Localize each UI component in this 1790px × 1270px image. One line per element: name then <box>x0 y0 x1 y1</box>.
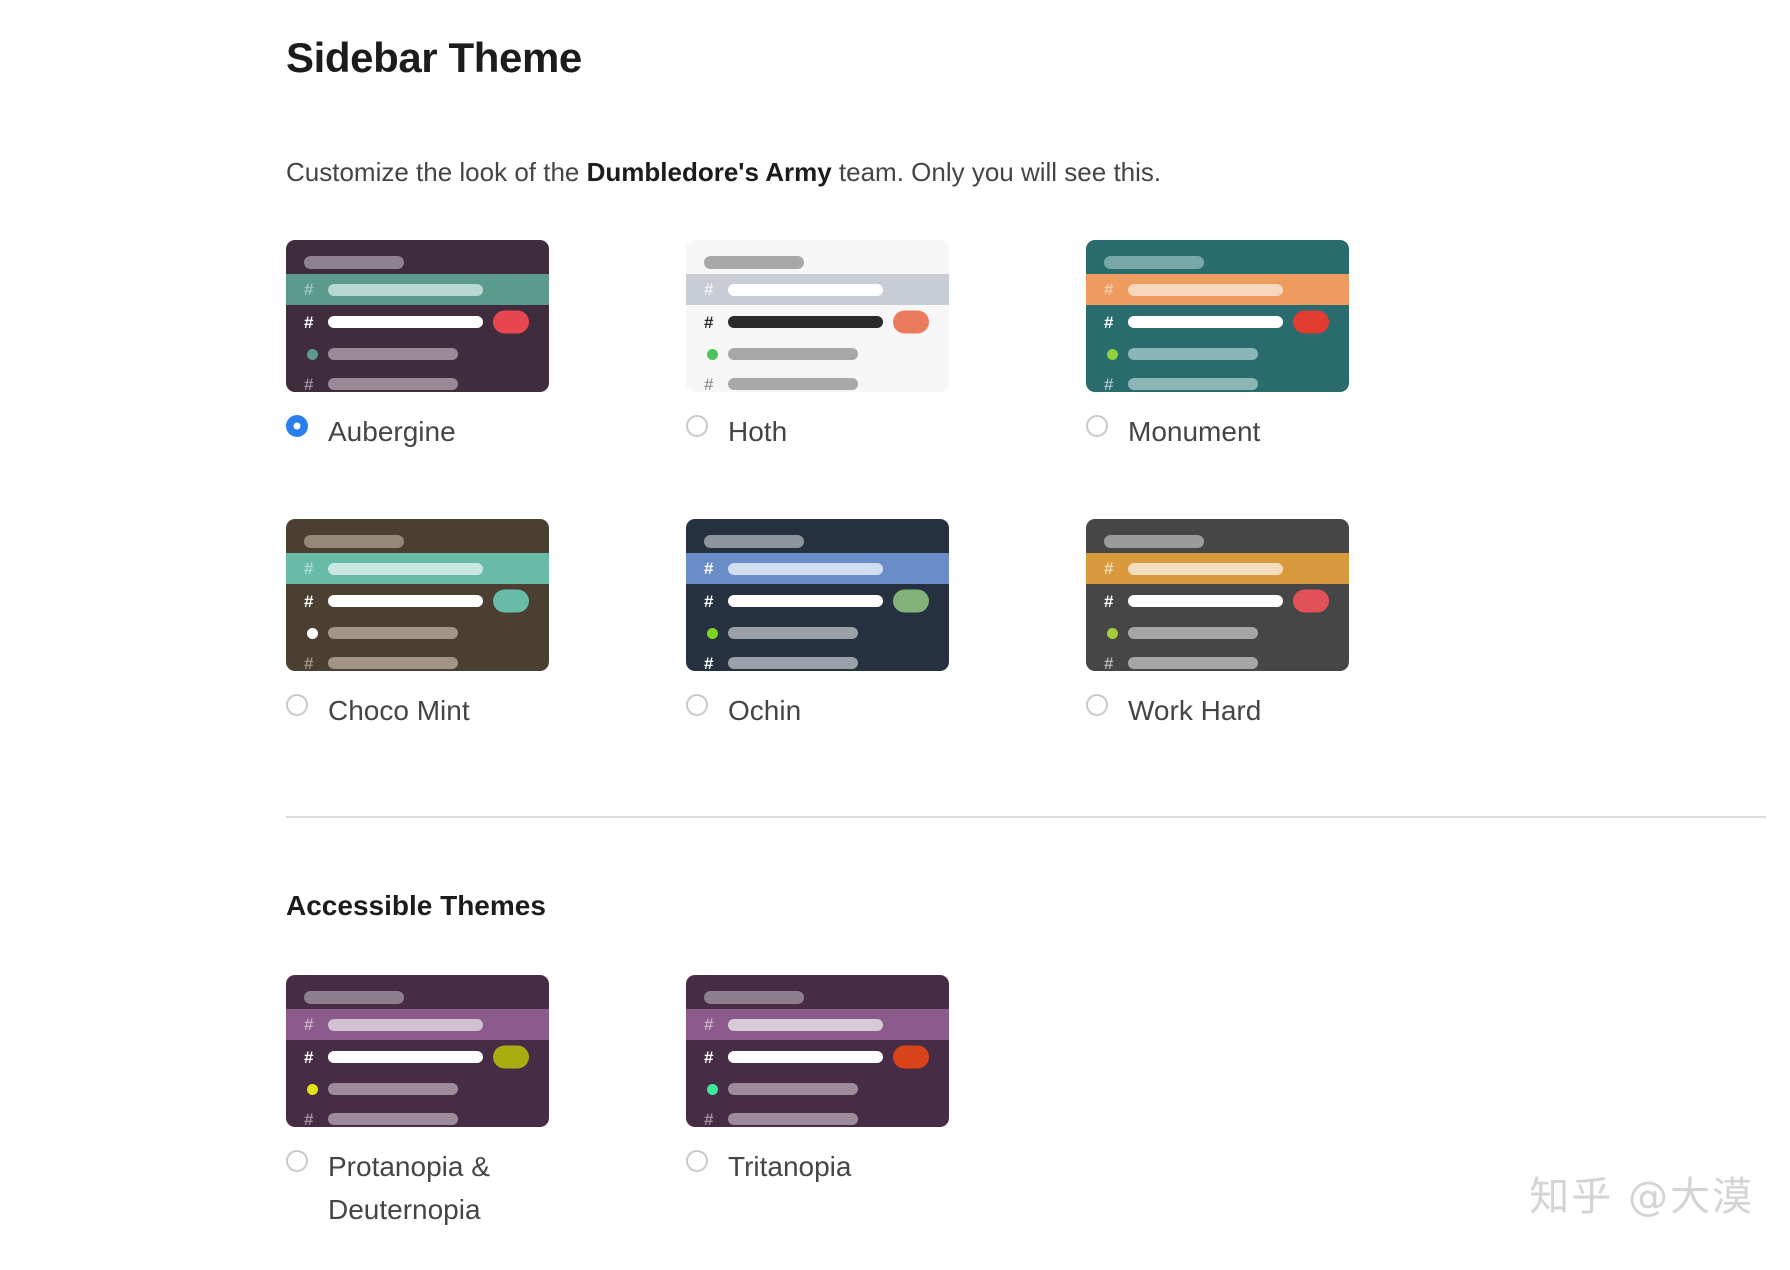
preview-team-row <box>286 975 549 1009</box>
preview-unread-channel-row: # <box>1086 305 1349 339</box>
preview-mention-badge <box>493 1046 529 1069</box>
theme-preview-card[interactable]: ### <box>686 519 949 671</box>
hash-icon: # <box>704 1111 722 1128</box>
radio-tritanopia[interactable] <box>686 1150 708 1172</box>
preview-channel-name-bar <box>328 378 458 390</box>
theme-preview-card[interactable]: ### <box>1086 519 1349 671</box>
preview-dm-name-bar <box>728 1083 858 1095</box>
preview-team-row <box>686 519 949 553</box>
presence-dot-icon <box>1107 628 1118 639</box>
section-divider <box>286 816 1766 818</box>
preview-channel-name-bar <box>728 1051 883 1063</box>
preview-clipped-channel-row: # <box>286 369 549 392</box>
theme-grid-standard: ###Aubergine###Hoth###Monument###Choco M… <box>286 240 1486 733</box>
preview-channel-name-bar <box>728 284 883 296</box>
hash-icon: # <box>1104 560 1122 577</box>
preview-clipped-channel-row: # <box>1086 648 1349 671</box>
theme-option-tritanopia[interactable]: ###Tritanopia <box>686 975 986 1232</box>
preview-team-row <box>686 975 949 1009</box>
sidebar-theme-settings-page: Sidebar Theme Customize the look of the … <box>0 0 1790 1270</box>
preview-team-name-pill <box>1104 535 1204 548</box>
preview-channel-name-bar <box>328 1051 483 1063</box>
preview-unread-channel-row: # <box>686 584 949 618</box>
preview-team-row <box>686 240 949 274</box>
presence-dot-icon <box>307 349 318 360</box>
preview-dm-row <box>1086 339 1349 369</box>
theme-option-control[interactable]: Hoth <box>686 410 986 453</box>
theme-label-aubergine[interactable]: Aubergine <box>328 410 456 453</box>
hash-icon: # <box>1104 655 1122 672</box>
theme-label-monument[interactable]: Monument <box>1128 410 1260 453</box>
hash-icon: # <box>704 655 722 672</box>
theme-preview-card[interactable]: ### <box>1086 240 1349 392</box>
preview-dm-row <box>1086 618 1349 648</box>
preview-unread-channel-row: # <box>286 305 549 339</box>
theme-option-protanopia-deuternopia[interactable]: ###Protanopia & Deuternopia <box>286 975 586 1232</box>
preview-channel-name-bar <box>1128 316 1283 328</box>
preview-team-row <box>286 519 549 553</box>
preview-mention-badge <box>493 311 529 334</box>
preview-active-channel-row: # <box>1086 274 1349 305</box>
theme-preview-card[interactable]: ### <box>286 975 549 1127</box>
theme-preview-card[interactable]: ### <box>286 240 549 392</box>
preview-dm-row <box>686 339 949 369</box>
hash-icon: # <box>304 1016 322 1033</box>
watermark: 知乎 @大漠 <box>1529 1164 1754 1222</box>
preview-team-name-pill <box>304 991 404 1004</box>
theme-option-hoth[interactable]: ###Hoth <box>686 240 986 453</box>
preview-channel-name-bar <box>728 595 883 607</box>
hash-icon: # <box>704 1016 722 1033</box>
theme-label-choco-mint[interactable]: Choco Mint <box>328 689 470 732</box>
radio-ochin[interactable] <box>686 694 708 716</box>
preview-channel-name-bar <box>728 1113 858 1125</box>
preview-channel-name-bar <box>328 1019 483 1031</box>
page-description-suffix: team. Only you will see this. <box>832 157 1161 187</box>
hash-icon: # <box>704 314 722 331</box>
presence-dot-icon <box>307 628 318 639</box>
preview-channel-name-bar <box>728 657 858 669</box>
preview-dm-name-bar <box>328 348 458 360</box>
preview-mention-badge <box>893 1046 929 1069</box>
hash-icon: # <box>304 314 322 331</box>
hash-icon: # <box>704 560 722 577</box>
theme-option-control[interactable]: Choco Mint <box>286 689 586 732</box>
theme-option-work-hard[interactable]: ###Work Hard <box>1086 519 1386 732</box>
preview-dm-name-bar <box>728 348 858 360</box>
preview-channel-name-bar <box>1128 595 1283 607</box>
theme-preview-card[interactable]: ### <box>686 975 949 1127</box>
theme-label-work-hard[interactable]: Work Hard <box>1128 689 1261 732</box>
preview-clipped-channel-row: # <box>686 1104 949 1127</box>
radio-hoth[interactable] <box>686 415 708 437</box>
preview-clipped-channel-row: # <box>286 1104 549 1127</box>
theme-label-ochin[interactable]: Ochin <box>728 689 801 732</box>
preview-active-channel-row: # <box>686 553 949 584</box>
hash-icon: # <box>304 1049 322 1066</box>
team-name: Dumbledore's Army <box>587 157 832 187</box>
preview-channel-name-bar <box>328 595 483 607</box>
preview-unread-channel-row: # <box>1086 584 1349 618</box>
preview-mention-badge <box>1293 311 1329 334</box>
preview-channel-name-bar <box>1128 563 1283 575</box>
preview-channel-name-bar <box>728 378 858 390</box>
preview-dm-name-bar <box>328 627 458 639</box>
preview-team-row <box>286 240 549 274</box>
presence-dot-icon <box>307 1084 318 1095</box>
preview-mention-badge <box>893 311 929 334</box>
preview-dm-row <box>686 618 949 648</box>
preview-team-name-pill <box>704 991 804 1004</box>
theme-option-control[interactable]: Aubergine <box>286 410 586 453</box>
accessible-themes-heading: Accessible Themes <box>286 890 546 922</box>
theme-preview-card[interactable]: ### <box>686 240 949 392</box>
preview-dm-name-bar <box>1128 348 1258 360</box>
theme-option-choco-mint[interactable]: ###Choco Mint <box>286 519 586 732</box>
hash-icon: # <box>304 655 322 672</box>
page-title: Sidebar Theme <box>286 34 582 82</box>
preview-team-name-pill <box>304 256 404 269</box>
theme-option-control[interactable]: Work Hard <box>1086 689 1386 732</box>
preview-mention-badge <box>493 590 529 613</box>
preview-active-channel-row: # <box>286 1009 549 1040</box>
hash-icon: # <box>704 376 722 393</box>
page-description-prefix: Customize the look of the <box>286 157 587 187</box>
preview-dm-row <box>286 1074 549 1104</box>
preview-unread-channel-row: # <box>286 584 549 618</box>
hash-icon: # <box>304 1111 322 1128</box>
theme-grid-accessible: ###Protanopia & Deuternopia###Tritanopia <box>286 975 1486 1232</box>
preview-clipped-channel-row: # <box>686 369 949 392</box>
theme-option-monument[interactable]: ###Monument <box>1086 240 1386 453</box>
preview-channel-name-bar <box>328 316 483 328</box>
page-description: Customize the look of the Dumbledore's A… <box>286 157 1161 188</box>
preview-active-channel-row: # <box>1086 553 1349 584</box>
preview-channel-name-bar <box>1128 657 1258 669</box>
radio-work-hard[interactable] <box>1086 694 1108 716</box>
preview-clipped-channel-row: # <box>1086 369 1349 392</box>
presence-dot-icon <box>707 1084 718 1095</box>
preview-mention-badge <box>893 590 929 613</box>
preview-channel-name-bar <box>328 1113 458 1125</box>
theme-option-control[interactable]: Ochin <box>686 689 986 732</box>
hash-icon: # <box>304 281 322 298</box>
radio-protanopia-deuternopia[interactable] <box>286 1150 308 1172</box>
hash-icon: # <box>304 593 322 610</box>
preview-dm-name-bar <box>1128 627 1258 639</box>
radio-choco-mint[interactable] <box>286 694 308 716</box>
hash-icon: # <box>1104 593 1122 610</box>
preview-dm-name-bar <box>728 627 858 639</box>
preview-unread-channel-row: # <box>686 1040 949 1074</box>
preview-channel-name-bar <box>728 1019 883 1031</box>
theme-preview-card[interactable]: ### <box>286 519 549 671</box>
theme-option-control[interactable]: Tritanopia <box>686 1145 986 1188</box>
presence-dot-icon <box>1107 349 1118 360</box>
theme-option-ochin[interactable]: ###Ochin <box>686 519 986 732</box>
preview-dm-name-bar <box>328 1083 458 1095</box>
preview-team-row <box>1086 240 1349 274</box>
preview-dm-row <box>286 339 549 369</box>
hash-icon: # <box>1104 281 1122 298</box>
hash-icon: # <box>704 1049 722 1066</box>
preview-unread-channel-row: # <box>686 305 949 339</box>
hash-icon: # <box>304 376 322 393</box>
hash-icon: # <box>1104 314 1122 331</box>
theme-option-control[interactable]: Monument <box>1086 410 1386 453</box>
preview-dm-row <box>686 1074 949 1104</box>
presence-dot-icon <box>707 628 718 639</box>
presence-dot-icon <box>707 349 718 360</box>
preview-active-channel-row: # <box>286 553 549 584</box>
preview-active-channel-row: # <box>686 274 949 305</box>
hash-icon: # <box>704 593 722 610</box>
radio-aubergine[interactable] <box>286 415 308 437</box>
hash-icon: # <box>304 560 322 577</box>
preview-active-channel-row: # <box>286 274 549 305</box>
preview-mention-badge <box>1293 590 1329 613</box>
hash-icon: # <box>704 281 722 298</box>
preview-team-name-pill <box>1104 256 1204 269</box>
theme-option-control[interactable]: Protanopia & Deuternopia <box>286 1145 586 1232</box>
preview-team-name-pill <box>704 535 804 548</box>
preview-channel-name-bar <box>728 316 883 328</box>
preview-team-name-pill <box>304 535 404 548</box>
theme-label-tritanopia[interactable]: Tritanopia <box>728 1145 851 1188</box>
preview-clipped-channel-row: # <box>286 648 549 671</box>
theme-option-aubergine[interactable]: ###Aubergine <box>286 240 586 453</box>
preview-dm-row <box>286 618 549 648</box>
preview-team-row <box>1086 519 1349 553</box>
theme-label-hoth[interactable]: Hoth <box>728 410 787 453</box>
preview-clipped-channel-row: # <box>686 648 949 671</box>
preview-channel-name-bar <box>1128 378 1258 390</box>
preview-active-channel-row: # <box>686 1009 949 1040</box>
preview-team-name-pill <box>704 256 804 269</box>
preview-channel-name-bar <box>728 563 883 575</box>
hash-icon: # <box>1104 376 1122 393</box>
preview-unread-channel-row: # <box>286 1040 549 1074</box>
theme-label-protanopia-deuternopia[interactable]: Protanopia & Deuternopia <box>328 1145 528 1232</box>
radio-monument[interactable] <box>1086 415 1108 437</box>
preview-channel-name-bar <box>328 563 483 575</box>
preview-channel-name-bar <box>328 284 483 296</box>
preview-channel-name-bar <box>1128 284 1283 296</box>
preview-channel-name-bar <box>328 657 458 669</box>
